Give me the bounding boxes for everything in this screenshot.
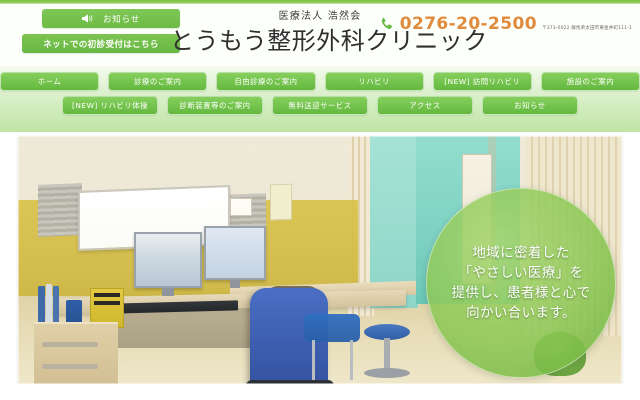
nav-item-facility-guide-label: 施設のご案内 — [567, 76, 614, 87]
hero-message-line-3: 提供し、患者様と心で — [452, 283, 591, 303]
nav-item-free-medical-guide-label: 自由診療のご案内 — [234, 76, 297, 87]
nav-item-home-visit-rehab[interactable]: [NEW] 訪問リハビリ — [433, 72, 532, 91]
nav-item-news[interactable]: お知らせ — [482, 96, 578, 115]
desk-cabinet — [34, 322, 118, 384]
nav-item-home-visit-rehab-label: [NEW] 訪問リハビリ — [444, 76, 520, 87]
nav-item-news-label: お知らせ — [514, 100, 545, 111]
nav-item-free-shuttle-label: 無料送迎サービス — [288, 100, 351, 111]
patient-chair-leg-left — [312, 340, 315, 380]
nav-item-medical-guide-label: 診療のご案内 — [134, 76, 181, 87]
web-reception-button[interactable]: ネットでの初診受付はこちら — [22, 34, 180, 53]
wall-poster — [270, 184, 292, 221]
monitor-right-stand — [230, 280, 240, 288]
news-button[interactable]: お知らせ — [42, 9, 180, 28]
hero-message-line-1: 地域に密着した — [452, 243, 591, 263]
web-reception-label: ネットでの初診受付はこちら — [43, 38, 159, 50]
nav-row-2: [NEW] リハビリ体操 診断装置等のご案内 無料送迎サービス アクセス お知ら… — [0, 96, 640, 115]
cabinet-handle-bottom — [42, 364, 98, 369]
stool-pole — [384, 338, 390, 372]
header-left-buttons: お知らせ ネットでの初診受付はこちら — [22, 9, 182, 53]
hero-message-line-2: 「やさしい医療」を — [452, 263, 591, 283]
nav-item-free-shuttle[interactable]: 無料送迎サービス — [272, 96, 368, 115]
site-header: お知らせ ネットでの初診受付はこちら 医療法人 浩然会 とうもう整形外科クリニッ… — [0, 4, 640, 66]
stool-base — [364, 368, 410, 378]
phone-text: 0276-20-2500 〒373-0022 群馬県太田市東金井町111-1 — [400, 14, 632, 33]
page-root: お知らせ ネットでの初診受付はこちら 医療法人 浩然会 とうもう整形外科クリニッ… — [0, 0, 640, 400]
wall-note — [230, 198, 252, 216]
wall-rail-left — [38, 183, 82, 237]
nav-item-rehabilitation-label: リハビリ — [358, 76, 390, 87]
nav-row-1: ホーム 診療のご案内 自由診療のご案内 リハビリ [NEW] 訪問リハビリ 施設… — [0, 72, 640, 91]
nav-item-rehab-exercise-label: [NEW] リハビリ体操 — [72, 100, 148, 111]
nav-item-free-medical-guide[interactable]: 自由診療のご案内 — [216, 72, 315, 91]
nav-item-diagnostic-equipment-label: 診断装置等のご案内 — [179, 100, 250, 111]
monitor-right — [204, 226, 266, 280]
nav-item-home[interactable]: ホーム — [0, 72, 99, 91]
hero-photo: 地域に密着した 「やさしい医療」を 提供し、患者様と心で 向かい合います。 — [18, 136, 622, 384]
nav-item-facility-guide[interactable]: 施設のご案内 — [541, 72, 640, 91]
megaphone-icon — [82, 14, 93, 23]
cabinet-handle-top — [42, 342, 98, 347]
nav-item-diagnostic-equipment[interactable]: 診断装置等のご案内 — [167, 96, 263, 115]
news-button-label: お知らせ — [103, 13, 140, 25]
main-navigation: ホーム 診療のご案内 自由診療のご案内 リハビリ [NEW] 訪問リハビリ 施設… — [0, 66, 640, 132]
nav-item-access[interactable]: アクセス — [377, 96, 473, 115]
monitor-left-stand — [162, 288, 174, 296]
header-phone-block: 0276-20-2500 〒373-0022 群馬県太田市東金井町111-1 — [380, 14, 632, 33]
phone-icon — [380, 17, 394, 31]
patient-chair-leg-right — [350, 340, 353, 380]
hero-message-badge: 地域に密着した 「やさしい医療」を 提供し、患者様と心で 向かい合います。 — [426, 188, 616, 378]
phone-number[interactable]: 0276-20-2500 — [400, 14, 537, 34]
nav-item-rehab-exercise[interactable]: [NEW] リハビリ体操 — [62, 96, 158, 115]
hero-message-text: 地域に密着した 「やさしい医療」を 提供し、患者様と心で 向かい合います。 — [444, 243, 599, 323]
nav-item-home-label: ホーム — [38, 76, 61, 87]
nav-item-rehabilitation[interactable]: リハビリ — [325, 72, 424, 91]
monitor-left — [134, 232, 202, 288]
clinic-address: 〒373-0022 群馬県太田市東金井町111-1 — [542, 26, 632, 31]
nav-item-medical-guide[interactable]: 診療のご案内 — [108, 72, 207, 91]
nav-item-access-label: アクセス — [409, 100, 440, 111]
hero-message-line-4: 向かい合います。 — [452, 303, 591, 323]
patient-chair — [304, 314, 360, 342]
page-bottom-gutter — [0, 384, 640, 400]
